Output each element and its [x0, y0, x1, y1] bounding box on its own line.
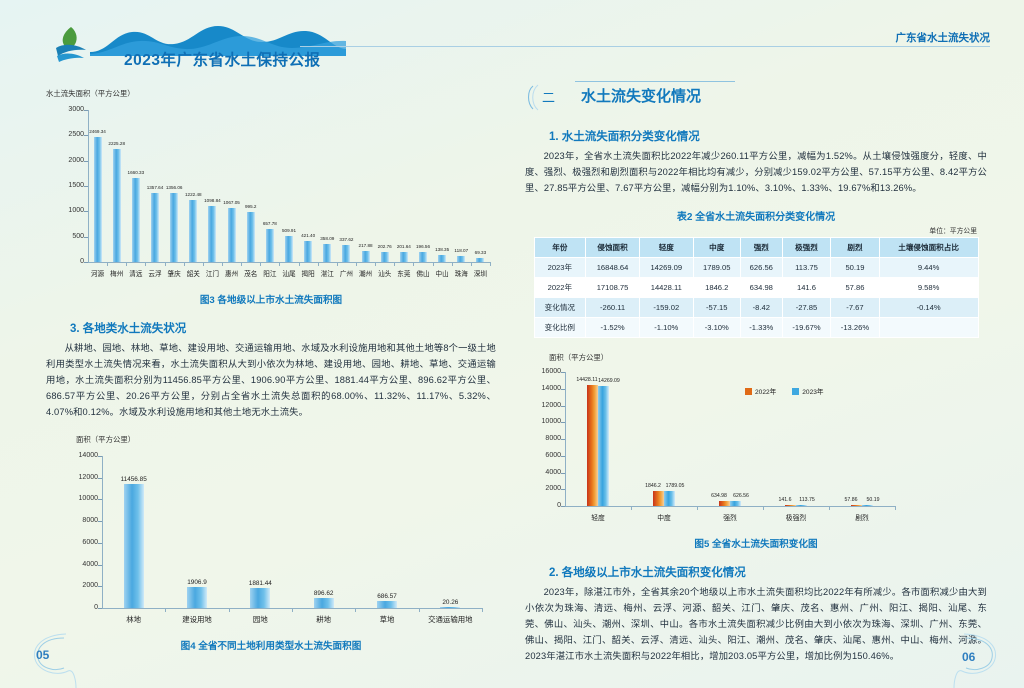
- bar: [151, 193, 159, 262]
- table2-cell: 变化比例: [534, 318, 586, 338]
- bar-value-label: 69.33: [460, 250, 500, 255]
- sub1-heading: 1. 水土流失面积分类变化情况: [549, 128, 987, 144]
- y-tick-label: 3000: [54, 106, 84, 113]
- bar: [653, 491, 664, 506]
- y-tick-label: 2000: [54, 157, 84, 164]
- x-tick-mark: [299, 262, 300, 266]
- table2-cell: 变化情况: [534, 298, 586, 318]
- report-page: 2023年广东省水土保持公报 广东省水土流失状况 水土流失面积（平方公里） 05…: [0, 0, 1024, 688]
- legend: 2022年2023年: [745, 386, 840, 396]
- legend-swatch: [745, 388, 752, 395]
- x-tick-mark: [165, 262, 166, 266]
- bar-value-label: 657.78: [250, 221, 290, 226]
- chart-fig4: 面积（平方公里） 0200040006000800010000120001400…: [46, 434, 496, 634]
- y-tick-mark: [98, 499, 102, 500]
- table2-cell: 2023年: [534, 258, 586, 278]
- chart-fig5: 面积（平方公里） 0200040006000800010000120001400…: [525, 352, 905, 532]
- x-tick-mark: [356, 262, 357, 266]
- bar: [247, 212, 255, 262]
- x-tick-mark: [126, 262, 127, 266]
- legend-label: 2023年: [802, 389, 823, 396]
- table2-header-cell: 极强烈: [782, 238, 830, 258]
- table2-cell: 57.86: [831, 278, 879, 298]
- bar-value-label: 20.26: [430, 599, 470, 606]
- y-tick-mark: [98, 608, 102, 609]
- table2-block: 表2 全省水土流失面积分类变化情况 单位：平方公里 年份侵蚀面积轻度中度强烈极强…: [525, 208, 987, 338]
- x-tick-mark: [292, 608, 293, 612]
- y-tick-mark: [84, 110, 88, 111]
- x-tick-label: 中度: [634, 512, 694, 522]
- bar-value-label: 1906.9: [177, 579, 217, 586]
- table2-cell: 141.6: [782, 278, 830, 298]
- x-tick-mark: [413, 262, 414, 266]
- table2-cell: 634.98: [740, 278, 782, 298]
- y-tick-label: 12000: [531, 402, 561, 409]
- bar: [285, 236, 293, 262]
- x-tick-mark: [895, 506, 896, 510]
- bar: [851, 505, 862, 506]
- table2-header-cell: 侵蚀面积: [586, 238, 640, 258]
- x-tick-mark: [184, 262, 185, 266]
- x-tick-mark: [763, 506, 764, 510]
- y-axis-line: [565, 372, 566, 506]
- x-tick-mark: [355, 608, 356, 612]
- x-tick-mark: [471, 262, 472, 266]
- bar: [785, 505, 796, 506]
- bar-value-label: 1789.05: [661, 483, 689, 489]
- y-tick-label: 1500: [54, 182, 84, 189]
- y-tick-label: 2000: [68, 582, 98, 589]
- bar: [719, 501, 730, 506]
- x-tick-mark: [203, 262, 204, 266]
- section-number-badge: 二: [527, 82, 573, 112]
- bar: [440, 607, 460, 608]
- y-tick-mark: [84, 237, 88, 238]
- bar: [400, 252, 408, 262]
- y-tick-label: 4000: [68, 561, 98, 568]
- bar: [250, 588, 270, 608]
- x-tick-mark: [107, 262, 108, 266]
- table2-cell: -7.67: [831, 298, 879, 318]
- fig4-y-axis-title: 面积（平方公里）: [76, 434, 135, 445]
- x-tick-mark: [631, 506, 632, 510]
- x-tick-label: 林地: [106, 614, 162, 625]
- table2-cell: [879, 318, 978, 338]
- y-tick-mark: [84, 262, 88, 263]
- bar: [113, 149, 121, 262]
- y-tick-label: 8000: [68, 517, 98, 524]
- bar: [730, 501, 741, 506]
- x-tick-label: 剧烈: [832, 512, 892, 522]
- table2: 年份侵蚀面积轻度中度强烈极强烈剧烈土壤侵蚀面积占比2023年16848.6414…: [534, 237, 979, 338]
- y-tick-mark: [98, 456, 102, 457]
- bar-value-label: 2469.34: [78, 129, 118, 134]
- table2-cell: 16848.64: [586, 258, 640, 278]
- table2-header-cell: 剧烈: [831, 238, 879, 258]
- table2-cell: 2022年: [534, 278, 586, 298]
- table2-cell: 14428.11: [639, 278, 693, 298]
- page-number-left: 05: [36, 648, 49, 662]
- sub2-paragraph: 2023年，除湛江市外，全省其余20个地级以上市水土流失面积均比2022年有所减…: [525, 584, 987, 664]
- table2-cell: -260.11: [586, 298, 640, 318]
- page-number-right: 06: [962, 650, 975, 664]
- y-tick-label: 0: [54, 258, 84, 265]
- table2-header-row: 年份侵蚀面积轻度中度强烈极强烈剧烈土壤侵蚀面积占比: [534, 238, 978, 258]
- x-tick-mark: [337, 262, 338, 266]
- y-tick-mark: [84, 211, 88, 212]
- right-column: 二 水土流失变化情况 1. 水土流失面积分类变化情况 2023年，全省水土流失面…: [525, 80, 987, 666]
- table2-cell: -159.02: [639, 298, 693, 318]
- bar-value-label: 1660.33: [116, 170, 156, 175]
- logo-icon: [54, 26, 88, 64]
- y-tick-mark: [84, 135, 88, 136]
- fig4-caption: 图4 全省不同土地利用类型水土流失面积图: [46, 638, 496, 652]
- y-tick-mark: [561, 473, 565, 474]
- x-tick-mark: [375, 262, 376, 266]
- y-tick-mark: [98, 586, 102, 587]
- bar: [862, 505, 873, 506]
- x-axis-line: [88, 262, 490, 263]
- bar: [457, 256, 465, 262]
- y-tick-label: 0: [68, 604, 98, 611]
- bar: [323, 244, 331, 262]
- left-column: 水土流失面积（平方公里） 050010001500200025003000246…: [46, 88, 496, 652]
- y-tick-mark: [561, 406, 565, 407]
- table2-cell: -19.67%: [782, 318, 830, 338]
- y-tick-mark: [98, 521, 102, 522]
- fig5-caption: 图5 全省水土流失面积变化图: [525, 536, 987, 550]
- x-tick-mark: [829, 506, 830, 510]
- y-tick-label: 500: [54, 233, 84, 240]
- y-tick-mark: [561, 422, 565, 423]
- table2-cell: 113.75: [782, 258, 830, 278]
- table2-unit: 单位：平方公里: [525, 225, 977, 235]
- x-tick-mark: [145, 262, 146, 266]
- y-tick-label: 0: [531, 502, 561, 509]
- bar-value-label: 113.75: [793, 497, 821, 503]
- bar-value-label: 1222.48: [173, 192, 213, 197]
- x-axis-line: [565, 506, 895, 507]
- x-tick-mark: [394, 262, 395, 266]
- x-tick-mark: [419, 608, 420, 612]
- bar: [228, 208, 236, 262]
- chart-fig3: 水土流失面积（平方公里） 050010001500200025003000246…: [46, 88, 496, 288]
- bar-value-label: 1356.06: [154, 185, 194, 190]
- y-tick-label: 6000: [531, 452, 561, 459]
- x-tick-label: 园地: [232, 614, 288, 625]
- bar: [419, 252, 427, 262]
- section-heading-2: 二 水土流失变化情况: [525, 80, 987, 120]
- bar-value-label: 626.56: [727, 493, 755, 499]
- y-tick-mark: [561, 456, 565, 457]
- x-tick-label: 草地: [359, 614, 415, 625]
- table2-header-cell: 土壤侵蚀面积占比: [879, 238, 978, 258]
- x-tick-label: 深圳: [452, 268, 508, 278]
- bar-value-label: 337.62: [326, 237, 366, 242]
- legend-label: 2022年: [755, 389, 776, 396]
- x-tick-mark: [318, 262, 319, 266]
- table2-header-cell: 轻度: [639, 238, 693, 258]
- y-tick-label: 14000: [68, 452, 98, 459]
- table2-cell: -13.26%: [831, 318, 879, 338]
- x-tick-label: 极强烈: [766, 512, 826, 522]
- y-tick-mark: [84, 186, 88, 187]
- table-row: 2023年16848.6414269.091789.05626.56113.75…: [534, 258, 978, 278]
- bar: [438, 255, 446, 262]
- x-tick-mark: [697, 506, 698, 510]
- table2-cell: -3.10%: [693, 318, 740, 338]
- x-tick-label: 耕地: [296, 614, 352, 625]
- y-tick-mark: [98, 565, 102, 566]
- bar: [587, 385, 598, 506]
- x-tick-label: 交通运输用地: [422, 614, 478, 625]
- y-tick-label: 10000: [531, 418, 561, 425]
- x-tick-mark: [229, 608, 230, 612]
- table-row: 2022年17108.7514428.111846.2634.98141.657…: [534, 278, 978, 298]
- table2-cell: -1.33%: [740, 318, 782, 338]
- table2-cell: -57.15: [693, 298, 740, 318]
- bar: [170, 193, 178, 262]
- table2-cell: -1.10%: [639, 318, 693, 338]
- bar-value-label: 686.57: [367, 593, 407, 600]
- y-tick-label: 8000: [531, 435, 561, 442]
- header-right-title: 广东省水土流失状况: [896, 30, 991, 45]
- table2-cell: -1.52%: [586, 318, 640, 338]
- y-tick-mark: [84, 161, 88, 162]
- bar: [796, 505, 807, 506]
- sub1-paragraph: 2023年，全省水土流失面积比2022年减少260.11平方公里，减幅为1.52…: [525, 148, 987, 196]
- legend-item: 2022年: [745, 389, 776, 396]
- x-tick-label: 建设用地: [169, 614, 225, 625]
- y-tick-mark: [561, 489, 565, 490]
- table2-cell: -0.14%: [879, 298, 978, 318]
- y-tick-mark: [98, 478, 102, 479]
- y-tick-label: 4000: [531, 469, 561, 476]
- bar-value-label: 14269.09: [595, 378, 623, 384]
- y-tick-mark: [561, 439, 565, 440]
- y-tick-label: 10000: [68, 495, 98, 502]
- bar: [189, 200, 197, 262]
- svg-text:二: 二: [542, 90, 555, 105]
- table-row: 变化比例-1.52%-1.10%-3.10%-1.33%-19.67%-13.2…: [534, 318, 978, 338]
- section3-paragraph: 从耕地、园地、林地、草地、建设用地、交通运输用地、水域及水利设施用地和其他土地等…: [46, 340, 496, 420]
- table2-cell: 9.58%: [879, 278, 978, 298]
- y-tick-mark: [561, 389, 565, 390]
- bar: [664, 491, 675, 506]
- bar: [314, 598, 334, 608]
- y-tick-mark: [561, 506, 565, 507]
- bar: [132, 178, 140, 262]
- y-tick-label: 1000: [54, 207, 84, 214]
- fig5-y-axis-title: 面积（平方公里）: [549, 352, 608, 363]
- legend-item: 2023年: [792, 389, 823, 396]
- bar-value-label: 11456.85: [114, 476, 154, 483]
- table2-cell: 9.44%: [879, 258, 978, 278]
- y-tick-mark: [98, 543, 102, 544]
- x-tick-mark: [279, 262, 280, 266]
- bar: [266, 229, 274, 262]
- table2-header-cell: 中度: [693, 238, 740, 258]
- y-tick-label: 6000: [68, 539, 98, 546]
- table2-cell: -8.42: [740, 298, 782, 318]
- bar: [187, 587, 207, 608]
- fig3-caption: 图3 各地级以上市水土流失面积图: [46, 292, 496, 306]
- x-tick-mark: [433, 262, 434, 266]
- x-tick-label: 强烈: [700, 512, 760, 522]
- table2-cell: -27.85: [782, 298, 830, 318]
- masthead-title: 2023年广东省水土保持公报: [124, 48, 320, 70]
- bar: [304, 241, 312, 262]
- y-tick-label: 2000: [531, 485, 561, 492]
- bar-value-label: 2225.28: [97, 141, 137, 146]
- x-tick-mark: [452, 262, 453, 266]
- x-tick-mark: [222, 262, 223, 266]
- bar: [362, 251, 370, 262]
- sub2-heading: 2. 各地级以上市水土流失面积变化情况: [549, 564, 987, 580]
- legend-swatch: [792, 388, 799, 395]
- bar: [476, 258, 484, 262]
- bar-value-label: 50.19: [859, 497, 887, 503]
- table2-header-cell: 强烈: [740, 238, 782, 258]
- table2-cell: 1846.2: [693, 278, 740, 298]
- y-axis-line: [102, 456, 103, 608]
- table-row: 变化情况-260.11-159.02-57.15-8.42-27.85-7.67…: [534, 298, 978, 318]
- bar: [381, 252, 389, 262]
- section-title-2: 水土流失变化情况: [581, 85, 701, 106]
- section3-heading: 3. 各地类水土流失状况: [70, 320, 496, 336]
- bar: [377, 601, 397, 608]
- bar: [124, 484, 144, 608]
- bar-value-label: 1881.44: [240, 580, 280, 587]
- table2-cell: 50.19: [831, 258, 879, 278]
- bar: [94, 137, 102, 262]
- table2-header-cell: 年份: [534, 238, 586, 258]
- header-divider: [300, 46, 990, 47]
- x-tick-mark: [241, 262, 242, 266]
- bar: [598, 386, 609, 506]
- table2-cell: 14269.09: [639, 258, 693, 278]
- bar-value-label: 896.62: [304, 590, 344, 597]
- bar-value-label: 995.2: [231, 204, 271, 209]
- x-tick-mark: [482, 608, 483, 612]
- table2-cell: 1789.05: [693, 258, 740, 278]
- y-tick-label: 16000: [531, 368, 561, 375]
- x-tick-mark: [165, 608, 166, 612]
- table2-cell: 17108.75: [586, 278, 640, 298]
- table2-title: 表2 全省水土流失面积分类变化情况: [525, 208, 987, 223]
- bar: [208, 206, 216, 262]
- y-tick-mark: [561, 372, 565, 373]
- table2-cell: 626.56: [740, 258, 782, 278]
- x-tick-mark: [490, 262, 491, 266]
- x-tick-mark: [260, 262, 261, 266]
- x-tick-label: 轻度: [568, 512, 628, 522]
- y-tick-label: 14000: [531, 385, 561, 392]
- y-tick-label: 12000: [68, 474, 98, 481]
- fig3-y-axis-title: 水土流失面积（平方公里）: [46, 88, 135, 99]
